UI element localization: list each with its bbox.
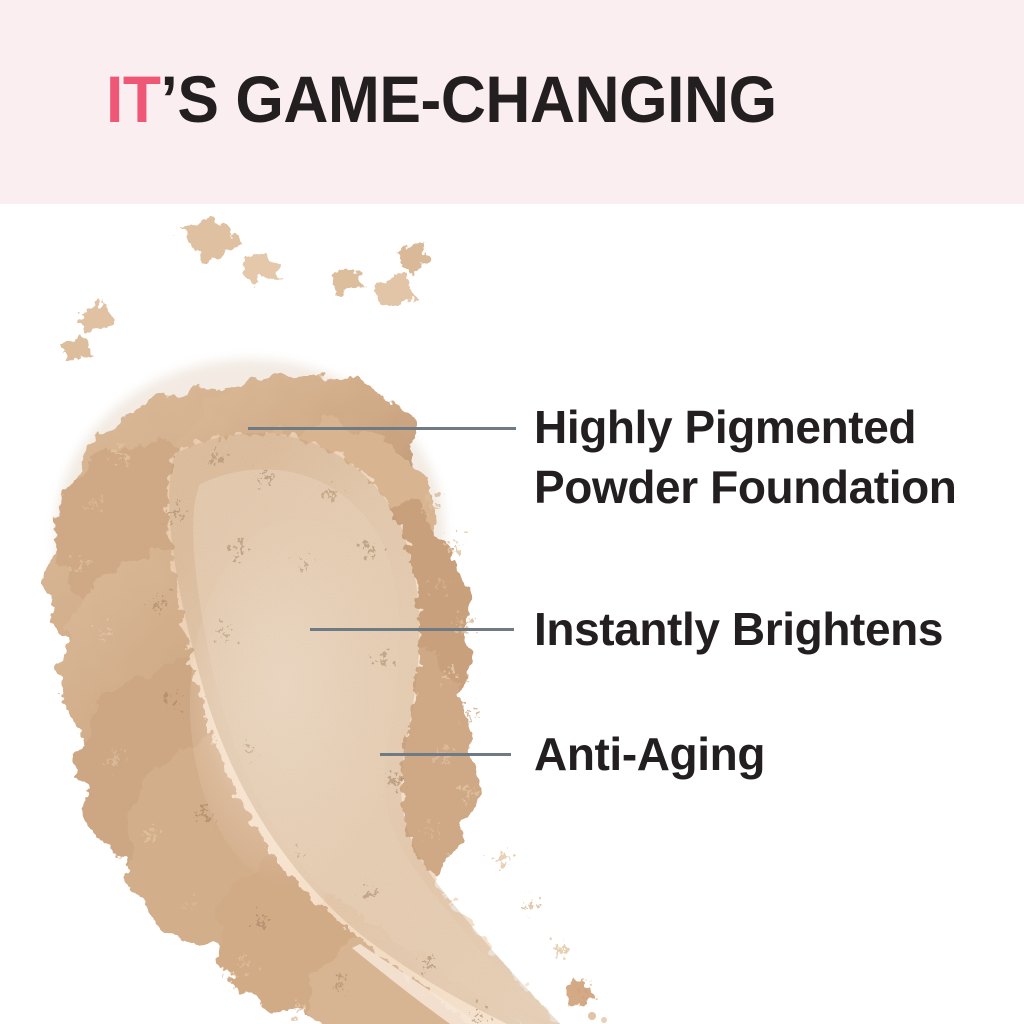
callout-label-instantly-brightens: Instantly Brightens xyxy=(534,599,943,659)
headline-main-text: ’S GAME-CHANGING xyxy=(160,62,776,136)
headline-accent-text: IT xyxy=(106,62,160,136)
promo-graphic: IT’S GAME-CHANGING xyxy=(0,0,1024,1024)
callout-label-highly-pigmented-powder-foundation: Highly Pigmented Powder Foundation xyxy=(534,397,957,517)
callout-leader-line-1 xyxy=(248,427,516,430)
callout-leader-line-3 xyxy=(380,753,511,756)
page-title: IT’S GAME-CHANGING xyxy=(106,60,777,138)
callout-label-anti-aging: Anti-Aging xyxy=(534,724,765,784)
callout-leader-line-2 xyxy=(310,628,514,631)
